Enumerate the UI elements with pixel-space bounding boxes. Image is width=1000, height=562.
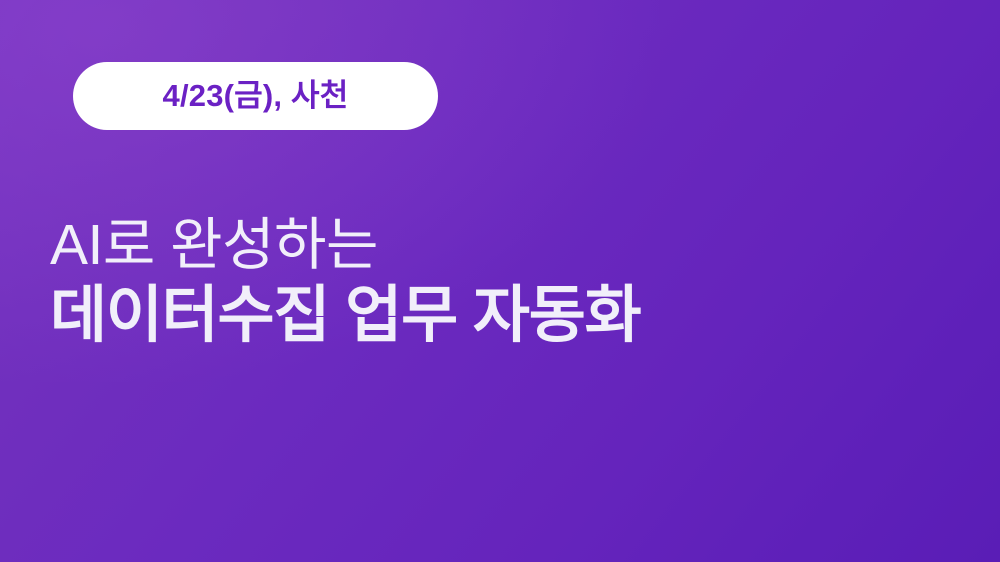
event-date-badge: 4/23(금), 사천: [73, 62, 438, 130]
event-date-badge-label: 4/23(금), 사천: [163, 80, 349, 111]
promo-slide: 4/23(금), 사천 AI로 완성하는 데이터수집 업무 자동화: [0, 0, 1000, 562]
headline-line-2: 데이터수집 업무 자동화: [50, 281, 910, 352]
headline-line-1: AI로 완성하는: [50, 212, 910, 279]
headline-block: AI로 완성하는 데이터수집 업무 자동화: [50, 212, 910, 352]
